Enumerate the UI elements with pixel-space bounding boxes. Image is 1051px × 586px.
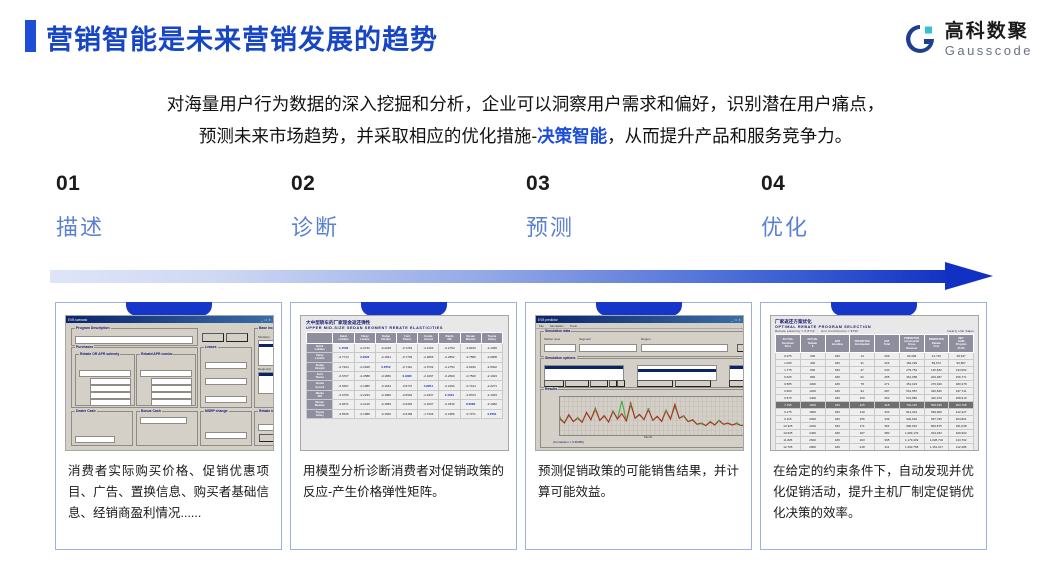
logo-text-cn: 高科数聚 (945, 22, 1033, 41)
opt-cell: 203,708 (949, 401, 974, 408)
opt-cell: 255 (875, 373, 900, 380)
opt-cell: 2600 (800, 436, 825, 443)
models-label: Model(s) (258, 335, 270, 339)
matrix-cell: -0.7204 (333, 362, 354, 371)
table-row: HondaAccord-0.5497-0.1986-0.1642-0.57474… (307, 381, 503, 390)
matrix-cell: -0.1642 (375, 381, 396, 390)
matrix-cell: -0.1660 (375, 409, 396, 418)
matrix-cell: -0.7254 (397, 343, 418, 352)
matrix-cell: -0.7110 (397, 362, 418, 371)
matrix-cell: -1.7436 (418, 409, 439, 418)
opt-cell: 0.975 (776, 352, 801, 359)
models-listbox[interactable] (258, 340, 274, 366)
step-4-number: 04 (761, 172, 809, 196)
card-1-caption: 消费者实际购买价格、促销优惠项目、广告、置换信息、购买者基础信息、经销商盈利情况… (68, 461, 269, 524)
opt-cell: 0.625 (776, 373, 801, 380)
step-1-name: 描述 (56, 210, 104, 242)
opt-cell: 7.195 (776, 401, 801, 408)
opt-col-header: NETGAINProgramProfit (949, 335, 974, 353)
lease-cash-input[interactable] (205, 362, 247, 369)
table-row: 0.5751400180109302631,882422,979208,919 (776, 394, 974, 401)
opt-cell: 1800 (800, 408, 825, 415)
step-1: 01 描述 (56, 172, 104, 242)
opt-cell: 361,058 (899, 373, 924, 380)
output-listbox[interactable] (729, 365, 744, 381)
matrix-cell: -0.8704 (460, 390, 481, 399)
purchase-select-1[interactable] (79, 370, 131, 377)
opt-cell: 812,301 (899, 408, 924, 415)
opt-cell: 411 (875, 443, 900, 450)
stage-card-2[interactable]: 大中型轿车的厂家现金返还弹性 UPPER MID-SIZE SEDAN SEGM… (290, 302, 517, 550)
matrix-cell: -0.7793 (397, 353, 418, 362)
matrix-col-header: ToyotaCamry (481, 333, 502, 344)
matrix-cell: 4.8254 (418, 381, 439, 390)
opt-cell: 702,119 (899, 401, 924, 408)
opt-cell: 180 (825, 422, 850, 429)
opt-cell: 12.705 (776, 443, 801, 450)
matrix-cell: 2.1591 (439, 390, 460, 399)
matrix-cell: -2.3207 (418, 400, 439, 409)
matrix-col-header: DodgeIntrepid (375, 333, 396, 344)
matrix-cell: 1.1548 (333, 343, 354, 352)
opt-cell: 279,754 (899, 366, 924, 373)
matrix-cell: -0.6490 (460, 362, 481, 371)
step-2: 02 诊断 (291, 172, 339, 242)
opt-cell: 10.325 (776, 422, 801, 429)
matrix-cell: -0.2669 (439, 372, 460, 381)
opt-cell: 0.175 (776, 408, 801, 415)
opt-cell: 3000 (800, 450, 825, 451)
progress-arrow (50, 262, 1010, 290)
region-select[interactable] (641, 344, 728, 352)
group-simulation-data: Simulation data Market view Segment Regi… (540, 331, 744, 357)
residual-subvoty-input[interactable] (205, 396, 247, 403)
matrix-col-header: ChevyLumina (354, 333, 375, 344)
move-down-button[interactable] (617, 380, 625, 387)
bonus-cash-input[interactable] (140, 417, 187, 424)
matrix-cell: -2.1982 (481, 400, 502, 409)
table-row: 10.3252200180171364990,910803,875181,038 (776, 422, 974, 429)
models-listbox-forecast[interactable] (637, 365, 717, 381)
opt-cell: 0.585 (776, 380, 801, 387)
matrix-cell: -0.6904 (397, 390, 418, 399)
opt-cell: 48,647 (949, 352, 974, 359)
table-row: 0.1751800180140333812,301599,906212,427 (776, 408, 974, 415)
group-label-program-description: Program Description (75, 326, 111, 330)
step-2-number: 02 (291, 172, 339, 196)
table-row: 0.585100018078271451,023276,949180,378 (776, 380, 974, 387)
opt-cell: 0.669 (776, 387, 801, 394)
matrix-cell: -0.5497 (333, 381, 354, 390)
group-label-base-incentives: Base incentives (258, 326, 274, 330)
matrix-cell: -0.1988 (354, 409, 375, 418)
screenshot-elasticity-matrix: 大中型轿车的厂家现金返还弹性 UPPER MID-SIZE SEDAN SEGM… (300, 315, 509, 451)
window-title: EVB scenario (68, 318, 87, 322)
opt-cell: 180 (825, 352, 850, 359)
opt-cell: 180 (825, 408, 850, 415)
opt-cell: 11.825 (776, 436, 801, 443)
matrix-cell: -0.6671 (333, 400, 354, 409)
graph-button[interactable] (729, 380, 744, 387)
stage-card-4[interactable]: 厂家返还方案优化 OPTIMAL REBATE PROGRAM SELECTIO… (760, 302, 987, 550)
edit-button[interactable] (590, 380, 608, 387)
opt-cell: 913,184 (924, 429, 949, 436)
group-label-dealer-cash: Dealer Cash (75, 409, 97, 413)
table-row: 10.93524001801873801,083,179913,184169,9… (776, 429, 974, 436)
table-row: BuickLeSabre1.1548-0.2742-0.2018-0.7254-… (307, 343, 503, 352)
group-dealer-cash: Dealer Cash (71, 411, 133, 446)
matrix-col-header: NissanMaxima (460, 333, 481, 344)
opt-cell: 180 (825, 443, 850, 450)
opt-cell: 180 (825, 436, 850, 443)
opt-cell: 600 (800, 366, 825, 373)
opt-cell: 197,741 (949, 387, 974, 394)
matrix-cell: -0.2928 (354, 362, 375, 371)
label-region: Region (641, 337, 651, 341)
card-tab-1 (126, 302, 212, 316)
matrix-cell: -2.1096 (481, 343, 502, 352)
matrix-row-header: FordTaurus (307, 372, 333, 381)
matrix-cell: -0.2794 (439, 362, 460, 371)
opt-cell: 287 (875, 387, 900, 394)
purchase-24mo-input[interactable] (90, 378, 131, 385)
purchase-48mo-input[interactable] (90, 392, 131, 399)
matrix-cell: -0.6766 (333, 390, 354, 399)
rebate-clear-button[interactable] (259, 434, 274, 442)
program-description-input[interactable] (75, 336, 193, 344)
opt-cell: 94 (850, 387, 875, 394)
intro-line-2-before: 预测未来市场趋势，并采取相应的优化措施- (199, 126, 537, 146)
opt-meta-left: Rebate elasticity = 0.8712 (775, 329, 815, 333)
opt-cell: 226 (875, 359, 900, 366)
matrix-cell: -0.7371 (460, 409, 481, 418)
menu-simulation[interactable]: Simulation (550, 324, 564, 328)
opt-cell: 145,842 (924, 366, 949, 373)
close-button[interactable] (226, 333, 248, 342)
opt-cell: 90,807 (949, 359, 974, 366)
opt-cell: 451,023 (899, 380, 924, 387)
opt-cell: 181,038 (949, 422, 974, 429)
opt-cell: 1,280,338 (924, 450, 949, 451)
group-msrp-change: MSRP change (200, 411, 252, 446)
matrix-cell: -0.1869 (375, 400, 396, 409)
select-all-button-forecast[interactable] (637, 380, 673, 387)
opt-cell: 184,329 (899, 359, 924, 366)
opt-cell: 990,910 (899, 422, 924, 429)
matrix-cell: -2.2271 (481, 381, 502, 390)
title-accent-bar (25, 20, 36, 52)
opt-cell: 180 (825, 366, 850, 373)
matrix-cell: -0.1991 (375, 353, 396, 362)
matrix-row-header: NissanMaxima (307, 400, 333, 409)
opt-cell: 1000 (800, 380, 825, 387)
opt-cell: 2800 (800, 443, 825, 450)
opt-cell: 200 (800, 352, 825, 359)
table-row: ChevyLumina-0.77132.2622-0.1991-0.7793-2… (307, 353, 503, 362)
save-button[interactable] (202, 333, 224, 342)
msrp-change-input[interactable] (205, 432, 247, 439)
opt-col-header: ACTUALRebate$ (800, 335, 825, 353)
card-2-caption: 用模型分析诊断消费者对促销政策的反应-产生价格弹性矩阵。 (303, 461, 504, 503)
opt-cell: 234 (850, 450, 875, 451)
opt-cell: 171 (850, 422, 875, 429)
step-3: 03 预测 (526, 172, 574, 242)
opt-cell: 156 (850, 415, 875, 422)
opt-cell: 208,919 (949, 394, 974, 401)
step-2-name: 诊断 (291, 210, 339, 242)
opt-cell: 1600 (800, 401, 825, 408)
matrix-cell: -0.2018 (375, 343, 396, 352)
new-curve-button[interactable] (737, 344, 744, 352)
opt-cell: 109 (850, 394, 875, 401)
opt-cell: 62 (850, 373, 875, 380)
table-row: 0.9752001801420990,34841,71048,647 (776, 352, 974, 359)
matrix-col-header: FordTaurus (397, 333, 418, 344)
opt-cell: 90,348 (899, 352, 924, 359)
opt-cell: 204,287 (924, 373, 949, 380)
opt-cell: 203 (850, 436, 875, 443)
intro-paragraph: 对海量用户行为数据的深入挖掘和分析，企业可以洞察用户需求和偏好，识别潜在用户痛点… (0, 88, 1051, 152)
opt-cell: 2400 (800, 429, 825, 436)
matrix-cell: -2.2806 (418, 353, 439, 362)
screenshot-forecast-app: EVB predictor _ □ × File Simulation Tool… (535, 315, 744, 451)
brand-logo: 高科数聚 Gausscode (903, 18, 1033, 60)
opt-cell: 180 (825, 415, 850, 422)
opt-cell: 1,173,409 (899, 436, 924, 443)
forecast-window-title: EVB predictor (538, 318, 558, 322)
opt-cell: 212,427 (949, 408, 974, 415)
group-label-simulation-data: Simulation data (544, 329, 571, 333)
page-title: 营销智能是未来营销发展的趋势 (46, 18, 438, 57)
scenario-listbox[interactable] (544, 365, 624, 381)
dealer-cash-select[interactable] (75, 436, 115, 443)
matrix-cell: -0.7500 (460, 372, 481, 381)
regions-label: Region(s) (258, 367, 271, 371)
opt-cell: 180 (825, 373, 850, 380)
forecast-window-titlebar: EVB predictor _ □ × (536, 316, 743, 323)
opt-cell: 180 (825, 359, 850, 366)
menu-file[interactable]: File (539, 324, 544, 328)
opt-cell: 1200 (800, 387, 825, 394)
dialog-body: Program Description Purchases Rebate OR … (66, 323, 273, 450)
table-row: 0.1152000180156349902,640697,796204,861 (776, 415, 974, 422)
opt-meta-mid: Unit Contribution = $790 (821, 329, 858, 333)
matrix-cell: -2.2337 (418, 390, 439, 399)
opt-cell: 180 (825, 429, 850, 436)
matrix-cell: -0.2630 (439, 400, 460, 409)
opt-cell: 180 (825, 401, 850, 408)
table-row: 12.70528001802184111,263,7581,151,017112… (776, 443, 974, 450)
table-row: FordTaurus-0.6767-0.2588-0.18600.9480-2.… (307, 372, 503, 381)
matrix-cell: -0.2802 (439, 353, 460, 362)
opt-cell: 349 (875, 415, 900, 422)
opt-cell: 169,992 (949, 429, 974, 436)
matrix-cell: -0.2233 (354, 390, 375, 399)
label-market-view: Market view (544, 337, 560, 341)
forecast-chart (559, 396, 744, 436)
matrix-cell: -0.1860 (375, 372, 396, 381)
opt-cell: 902,640 (899, 415, 924, 422)
opt-cell: 395 (875, 436, 900, 443)
table-row: 0.669120018094287541,587340,846197,741 (776, 387, 974, 394)
group-bonus-cash: Bonus Cash (136, 411, 198, 446)
matrix-cell: -0.1986 (354, 381, 375, 390)
add-button[interactable] (544, 380, 564, 387)
matrix-cell: 0.8752 (375, 362, 396, 371)
group-purchases: Purchases Rebate OR APR subvoty Rebate/A… (71, 347, 198, 408)
group-label-rebate-incentives: Rebate incentives (258, 409, 274, 413)
step-3-name: 预测 (526, 210, 574, 242)
opt-col-header: PREDICTEDRebateCost (924, 335, 949, 353)
opt-cell: 2200 (800, 422, 825, 429)
opt-cell: 318 (875, 401, 900, 408)
opt-cell: 180,378 (949, 380, 974, 387)
opt-cell: 140 (850, 408, 875, 415)
opt-cell: 180 (825, 450, 850, 451)
opt-cell: 10.935 (776, 429, 801, 436)
rate-subvoty-input[interactable] (205, 378, 247, 385)
matrix-cell: -2.0602 (481, 362, 502, 371)
combo-36mo-input[interactable] (151, 385, 192, 392)
models-selected-forecast[interactable] (638, 369, 716, 372)
opt-cell: 1.775 (776, 366, 801, 373)
opt-cell: 541,587 (899, 387, 924, 394)
combo-24mo-input[interactable] (151, 378, 192, 385)
opt-cell: 803,875 (924, 422, 949, 429)
opt-cell: 0.575 (776, 394, 801, 401)
opt-cell: 599,906 (924, 408, 949, 415)
opt-cell: 2000 (800, 415, 825, 422)
menu-tools[interactable]: Tools (570, 324, 577, 328)
opt-cell: 427 (875, 450, 900, 451)
opt-cell: 134,502 (949, 366, 974, 373)
opt-cell: 697,796 (924, 415, 949, 422)
models-selected-item[interactable] (259, 344, 274, 347)
opt-cell: 1,151,017 (924, 443, 949, 450)
opt-cell: 180 (825, 387, 850, 394)
matrix-col-header: HondaAccord (418, 333, 439, 344)
opt-cell: 1,263,758 (899, 443, 924, 450)
card-tab-2 (361, 302, 447, 316)
matrix-cell: -0.7713 (333, 353, 354, 362)
opt-cell: 180 (825, 394, 850, 401)
opt-cell: 380 (875, 429, 900, 436)
screenshot-scenario-dialog: EVB scenario _ □ × Program Description P… (65, 315, 274, 451)
table-row: ToyotaCamry-0.5645-0.1988-0.1660-0.6189-… (307, 409, 503, 418)
matrix-cell: -0.8340 (460, 343, 481, 352)
chart-xlabel: Month (644, 435, 652, 439)
opt-cell: 187 (850, 429, 875, 436)
intro-line-2: 预测未来市场趋势，并采取相应的优化措施-决策智能，从而提升产品和服务竞争力。 (0, 120, 1051, 152)
clear-all-button-forecast[interactable] (675, 380, 711, 387)
step-4-name: 优化 (761, 210, 809, 242)
group-label-results: Results (544, 387, 558, 391)
segment-select[interactable] (579, 344, 637, 352)
progress-arrow-bar (50, 270, 955, 283)
matrix-cell: -2.2192 (418, 343, 439, 352)
matrix-cell: -0.2293 (439, 381, 460, 390)
matrix-cell: -0.7314 (460, 381, 481, 390)
gausscode-g-icon (903, 22, 937, 56)
stage-card-3[interactable]: EVB predictor _ □ × File Simulation Tool… (525, 302, 752, 550)
matrix-cell: -0.1890 (375, 390, 396, 399)
purchase-60mo-input[interactable] (90, 399, 131, 406)
elasticity-matrix-table: BuickLeSabreChevyLuminaDodgeIntrepidFord… (306, 332, 503, 419)
opt-col-header: ACTUALCustomerPrice (776, 335, 801, 353)
intro-line-1: 对海量用户行为数据的深入挖掘和分析，企业可以洞察用户需求和偏好，识别潜在用户痛点… (0, 88, 1051, 120)
matrix-cell: -0.6362 (397, 400, 418, 409)
opt-cell: 1,083,179 (899, 429, 924, 436)
group-label-bonus-cash: Bonus Cash (140, 409, 162, 413)
purchase-36mo-input[interactable] (90, 385, 131, 392)
step-3-number: 03 (526, 172, 574, 196)
opt-cell: 422,979 (924, 394, 949, 401)
regions-listbox[interactable] (258, 372, 274, 394)
table-row: DodgeIntrepid-0.7204-0.29280.8752-0.7110… (307, 362, 503, 371)
matrix-cell: -0.5645 (333, 409, 354, 418)
combo-60mo-input[interactable] (151, 399, 192, 406)
opt-col-header: PREDICTEDIncremental (850, 335, 875, 353)
move-up-button[interactable] (609, 380, 617, 387)
stage-card-1[interactable]: EVB scenario _ □ × Program Description P… (55, 302, 282, 550)
opt-cell: 631,882 (899, 394, 924, 401)
remove-button[interactable] (565, 380, 589, 387)
step-1-number: 01 (56, 172, 104, 196)
forecast-chart-svg (560, 397, 744, 435)
correlation-note: (Correlation = 0.96386) (553, 440, 584, 444)
subgroup-label-rebate-or-apr: Rebate OR APR subvoty (79, 352, 120, 356)
opt-cell: 41,710 (924, 352, 949, 359)
table-row: 1.02540018031226184,32989,67290,807 (776, 359, 974, 366)
screenshot-optimization-table: 厂家返还方案优化 OPTIMAL REBATE PROGRAM SELECTIO… (770, 315, 979, 451)
opt-cell: 180 (825, 380, 850, 387)
scenario-selected-item[interactable] (545, 366, 623, 369)
opt-cell: 302 (875, 394, 900, 401)
opt-cell: 204,861 (949, 415, 974, 422)
group-label-msrp-change: MSRP change (204, 409, 229, 413)
matrix-cell: -0.2794 (439, 343, 460, 352)
forecast-window-controls-icon: _ □ × (731, 318, 741, 322)
opt-cell: 0.115 (776, 415, 801, 422)
intro-highlight: 决策智能 (537, 126, 607, 146)
table-row: 7.1951600180125318702,119509,335203,708 (776, 401, 974, 408)
group-label-simulation-options: Simulation options (544, 356, 577, 360)
matrix-cell: -2.1697 (418, 372, 439, 381)
opt-cell: 364 (875, 422, 900, 429)
matrix-row-header: ToyotaCamry (307, 409, 333, 418)
opt-cell: 156,771 (949, 373, 974, 380)
rebate-model-select[interactable] (258, 424, 274, 431)
progress-arrow-head-icon (945, 262, 993, 290)
opt-cell: 333 (875, 408, 900, 415)
opt-cell: 218 (850, 443, 875, 450)
opt-cell: 13.645 (776, 450, 801, 451)
matrix-cell: 8.6080 (460, 400, 481, 409)
opt-cell: 14 (850, 352, 875, 359)
output-selected-item[interactable] (730, 366, 744, 369)
combo-48mo-input[interactable] (151, 392, 192, 399)
combo-select-1[interactable] (140, 370, 192, 377)
step-labels: 01 描述 02 诊断 03 预测 04 优化 (0, 172, 1051, 252)
opt-cell: 73,400 (949, 450, 974, 451)
label-segment: Segment (579, 337, 591, 341)
opt-cell: 78 (850, 380, 875, 387)
matrix-row-header: DodgeIntrepid (307, 362, 333, 371)
regions-selected-item[interactable] (259, 373, 274, 376)
opt-cell: 1400 (800, 394, 825, 401)
market-view-select[interactable] (544, 344, 576, 352)
group-simulation-options: Simulation options (540, 358, 744, 388)
